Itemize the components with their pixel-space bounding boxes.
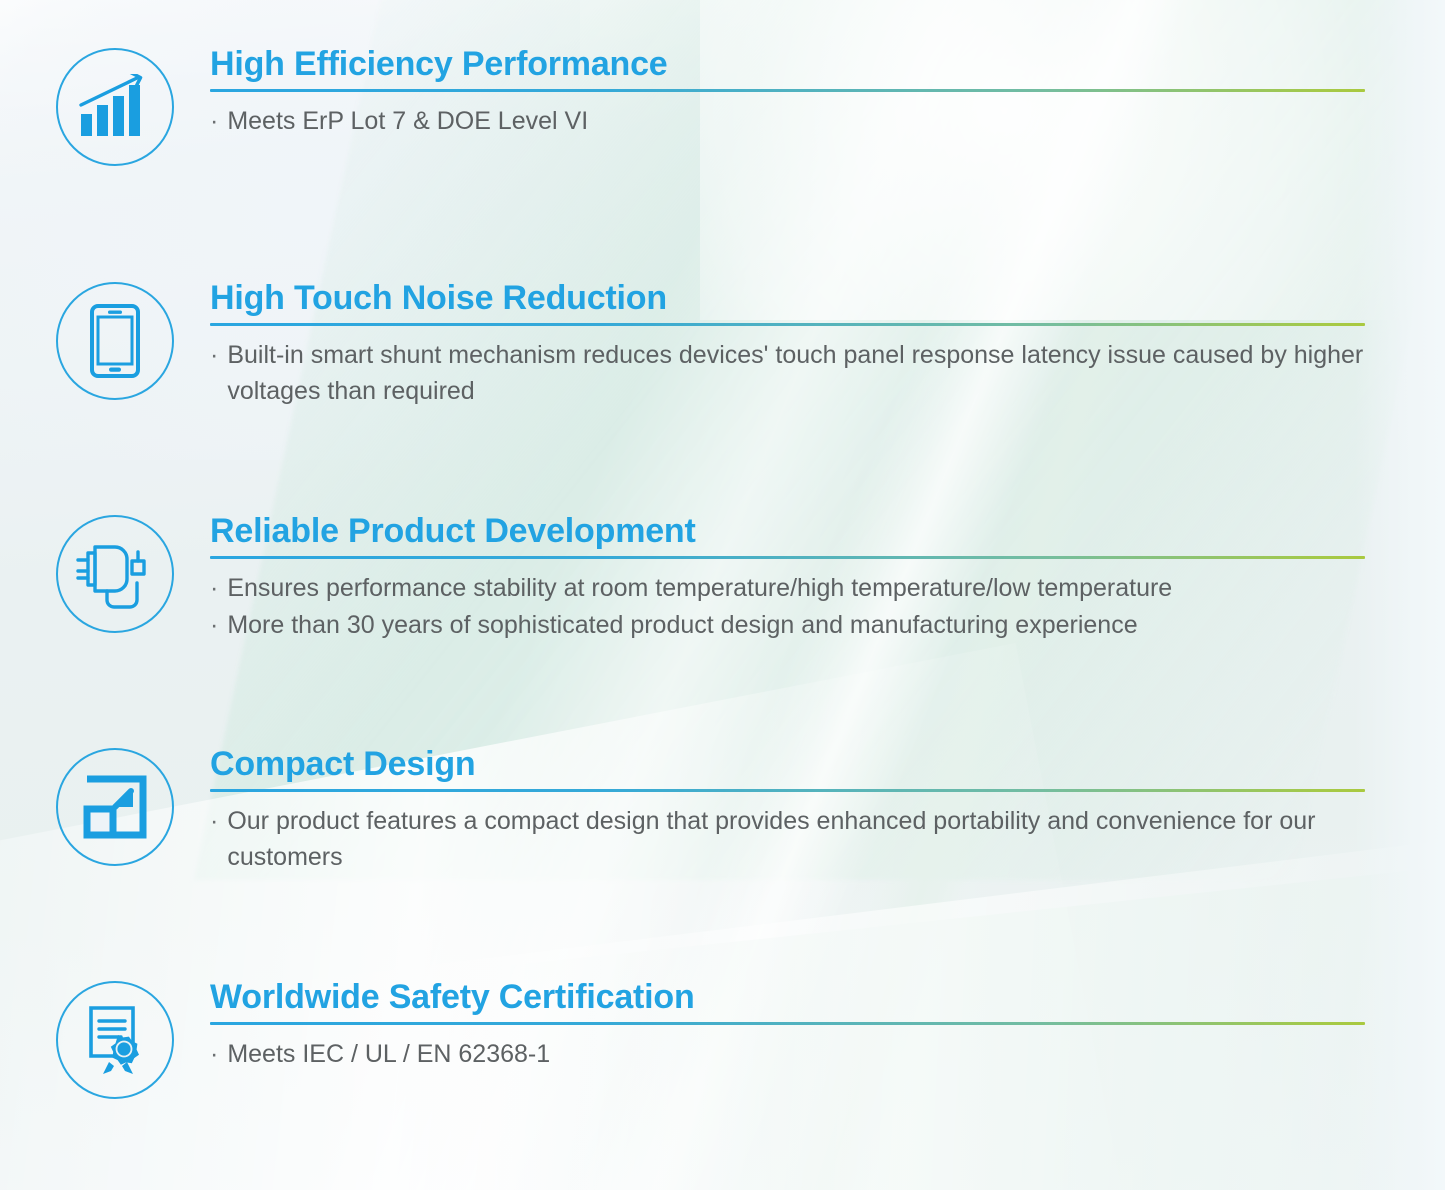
feature-bullet-text: More than 30 years of sophisticated prod… [227, 608, 1367, 644]
feature-divider [210, 789, 1365, 792]
feature-bullet-text: Our product features a compact design th… [227, 804, 1367, 875]
feature-content: Compact Design · Our product features a … [210, 746, 1445, 876]
bullet-marker-icon: · [210, 1037, 218, 1073]
feature-icon-container [52, 746, 178, 866]
power-adapter-icon [56, 515, 174, 633]
feature-content: Reliable Product Development · Ensures p… [210, 513, 1445, 644]
feature-divider [210, 89, 1365, 92]
feature-bullet: · Our product features a compact design … [210, 804, 1367, 875]
feature-item-worldwide-safety-certification: Worldwide Safety Certification · Meets I… [0, 979, 1445, 1099]
feature-bullet: · Ensures performance stability at room … [210, 571, 1367, 607]
feature-icon-container [52, 280, 178, 400]
feature-bullet-text: Meets ErP Lot 7 & DOE Level VI [227, 104, 1367, 140]
feature-bullet: · Meets IEC / UL / EN 62368-1 [210, 1037, 1367, 1073]
feature-highlights-page: High Efficiency Performance · Meets ErP … [0, 0, 1445, 1190]
smartphone-icon [56, 282, 174, 400]
bullet-marker-icon: · [210, 104, 218, 140]
feature-bullet-list: · Built-in smart shunt mechanism reduces… [210, 338, 1367, 409]
feature-title: Compact Design [210, 746, 1367, 789]
feature-bullet-list: · Ensures performance stability at room … [210, 571, 1367, 643]
feature-content: Worldwide Safety Certification · Meets I… [210, 979, 1445, 1074]
certificate-seal-icon [56, 981, 174, 1099]
feature-bullet: · Built-in smart shunt mechanism reduces… [210, 338, 1367, 409]
feature-bullet-text: Meets IEC / UL / EN 62368-1 [227, 1037, 1367, 1073]
feature-title: Worldwide Safety Certification [210, 979, 1367, 1022]
feature-content: High Efficiency Performance · Meets ErP … [210, 46, 1445, 141]
feature-item-compact-design: Compact Design · Our product features a … [0, 746, 1445, 876]
feature-title: Reliable Product Development [210, 513, 1367, 556]
feature-bullet-list: · Our product features a compact design … [210, 804, 1367, 875]
bar-chart-growth-icon [56, 48, 174, 166]
background-wash-bottom [0, 643, 1161, 1190]
feature-divider [210, 556, 1365, 559]
feature-icon-container [52, 46, 178, 166]
bullet-marker-icon: · [210, 338, 218, 374]
feature-bullet-text: Ensures performance stability at room te… [227, 571, 1367, 607]
bullet-marker-icon: · [210, 608, 218, 644]
feature-bullet-text: Built-in smart shunt mechanism reduces d… [227, 338, 1367, 409]
feature-title: High Touch Noise Reduction [210, 280, 1367, 323]
feature-divider [210, 323, 1365, 326]
feature-item-high-touch-noise-reduction: High Touch Noise Reduction · Built-in sm… [0, 280, 1445, 410]
feature-icon-container [52, 513, 178, 633]
feature-item-high-efficiency-performance: High Efficiency Performance · Meets ErP … [0, 46, 1445, 166]
bullet-marker-icon: · [210, 804, 218, 840]
feature-icon-container [52, 979, 178, 1099]
feature-item-reliable-product-development: Reliable Product Development · Ensures p… [0, 513, 1445, 644]
feature-bullet: · More than 30 years of sophisticated pr… [210, 608, 1367, 644]
bullet-marker-icon: · [210, 571, 218, 607]
feature-bullet-list: · Meets ErP Lot 7 & DOE Level VI [210, 104, 1367, 140]
feature-title: High Efficiency Performance [210, 46, 1367, 89]
compact-resize-icon [56, 748, 174, 866]
feature-bullet: · Meets ErP Lot 7 & DOE Level VI [210, 104, 1367, 140]
feature-divider [210, 1022, 1365, 1025]
feature-content: High Touch Noise Reduction · Built-in sm… [210, 280, 1445, 410]
feature-bullet-list: · Meets IEC / UL / EN 62368-1 [210, 1037, 1367, 1073]
